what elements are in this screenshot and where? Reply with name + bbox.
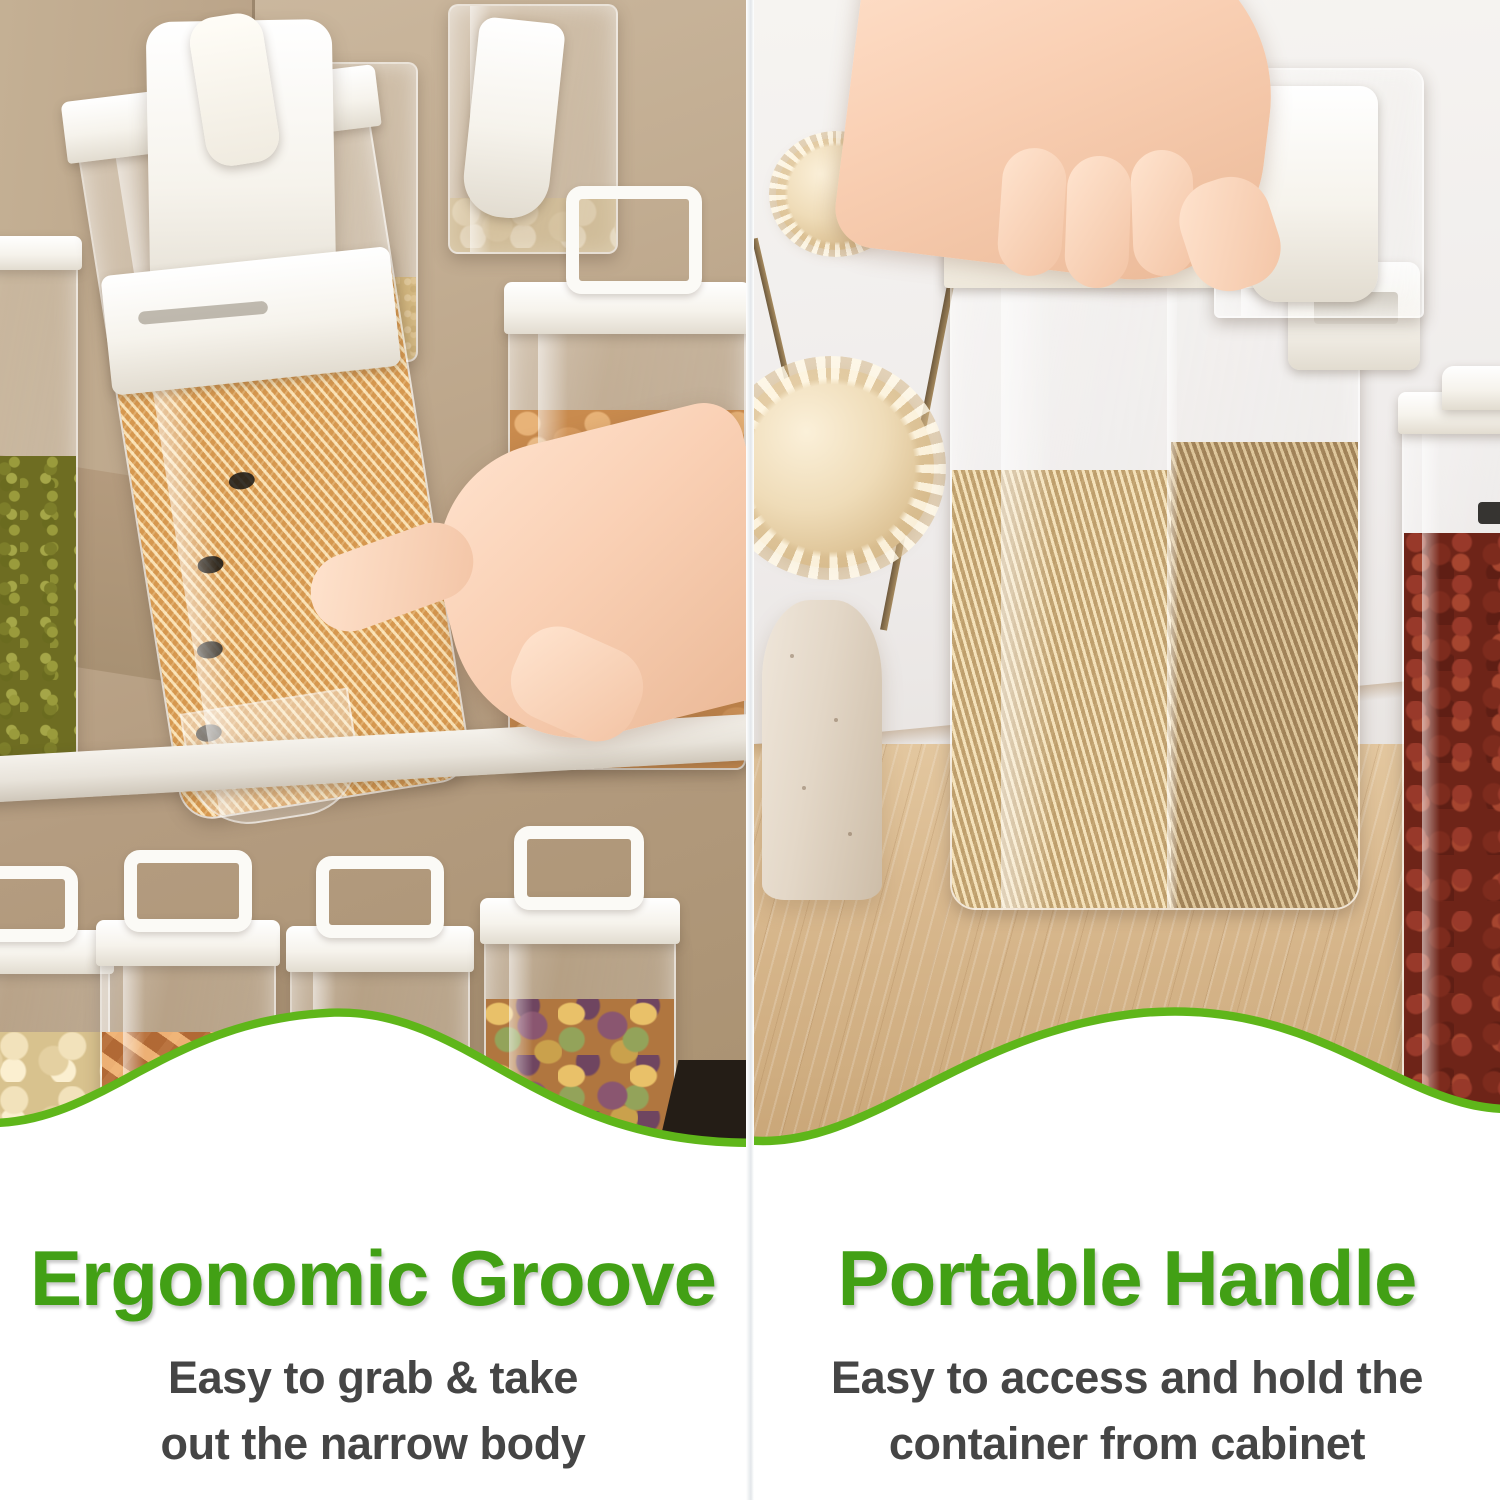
photo-cabinet-scene [0,0,746,1215]
subtitle-line-2: out the narrow body [161,1411,586,1478]
vase-speckle [790,654,794,658]
subtitle-line-1: Easy to access and hold the [831,1345,1423,1412]
green-wave-divider-right [754,995,1500,1215]
mung-beans-jar-lid [0,236,82,270]
macaroni-jar-handle [566,186,702,294]
oat-grain-fill-rear [1171,442,1358,908]
couscous-jar-handle [316,856,444,938]
mung-beans-fill [0,456,76,776]
headline-portable-handle: Portable Handle [838,1239,1417,1319]
ceramic-vase [762,600,882,900]
subtitle-portable-handle: Easy to access and hold the container fr… [831,1345,1423,1478]
subtitle-ergonomic-groove: Easy to grab & take out the narrow body [161,1345,586,1478]
container-label-mark [1478,502,1500,524]
adzuki-container-cap [1442,366,1500,410]
panel-ergonomic-groove: Ergonomic Groove Easy to grab & take out… [0,0,746,1500]
mung-beans-jar [0,258,78,778]
subtitle-line-1: Easy to grab & take [161,1345,586,1412]
vase-speckle [834,718,838,722]
panel-divider [746,0,754,1500]
caption-portable-handle: Portable Handle Easy to access and hold … [754,1215,1500,1500]
subtitle-line-2: container from cabinet [831,1411,1423,1478]
headline-ergonomic-groove: Ergonomic Groove [30,1239,716,1319]
rotini-jar-handle [514,826,644,910]
green-wave-divider-left [0,995,746,1215]
caption-ergonomic-groove: Ergonomic Groove Easy to grab & take out… [0,1215,746,1500]
chickpea-jar-handle [0,866,78,942]
photo-table-scene [754,0,1500,1215]
finger-2 [1064,155,1133,289]
vase-speckle [802,786,806,790]
jar-label-dot [196,639,224,660]
finger-1 [996,146,1069,278]
penne-jar-handle [124,850,252,932]
container-center-rib [1167,202,1177,908]
dried-flower-large [754,368,934,568]
panel-portable-handle: Portable Handle Easy to access and hold … [754,0,1500,1500]
product-feature-infographic: Ergonomic Groove Easy to grab & take out… [0,0,1500,1500]
vase-speckle [848,832,852,836]
